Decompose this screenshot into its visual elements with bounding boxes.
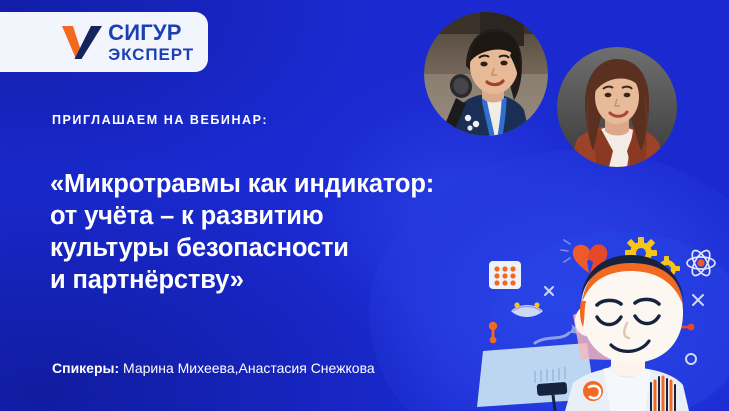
speakers-label: Спикеры: [52, 360, 119, 376]
brand-logo-panel: СИГУР ЭКСПЕРТ [0, 12, 208, 72]
logo-wordmark: СИГУР ЭКСПЕРТ [108, 22, 194, 63]
safety-culture-illustration [469, 231, 729, 411]
webinar-promo-banner: СИГУР ЭКСПЕРТ ПРИГЛАШАЕМ НА ВЕБИНАР: «Ми… [0, 0, 729, 411]
pill-blister-icon [489, 261, 521, 289]
speaker-photo-marina-mikheeva [424, 12, 548, 136]
shirt-logo-icon [583, 381, 603, 401]
headline-line-2: от учёта – к развитию [50, 200, 434, 232]
speakers-names: Марина Михеева,Анастасия Снежкова [119, 360, 375, 376]
logo-word-sigur: СИГУР [108, 22, 182, 44]
speakers-line: Спикеры: Марина Михеева,Анастасия Снежко… [52, 360, 375, 376]
kicker-text: ПРИГЛАШАЕМ НА ВЕБИНАР: [52, 113, 268, 127]
speaker-photo-anastasia-snezhkova [557, 47, 677, 167]
atom-nucleus-icon [697, 259, 704, 266]
headline-line-1: «Микротравмы как индикатор: [50, 168, 434, 200]
sigur-v-mark-icon [60, 22, 104, 62]
logo-lockup: СИГУР ЭКСПЕРТ [60, 22, 194, 63]
headline-line-4: и партнёрству» [50, 264, 434, 296]
page-title: «Микротравмы как индикатор: от учёта – к… [50, 168, 434, 297]
headline-line-3: культуры безопасности [50, 232, 434, 264]
logo-word-expert: ЭКСПЕРТ [108, 46, 194, 63]
